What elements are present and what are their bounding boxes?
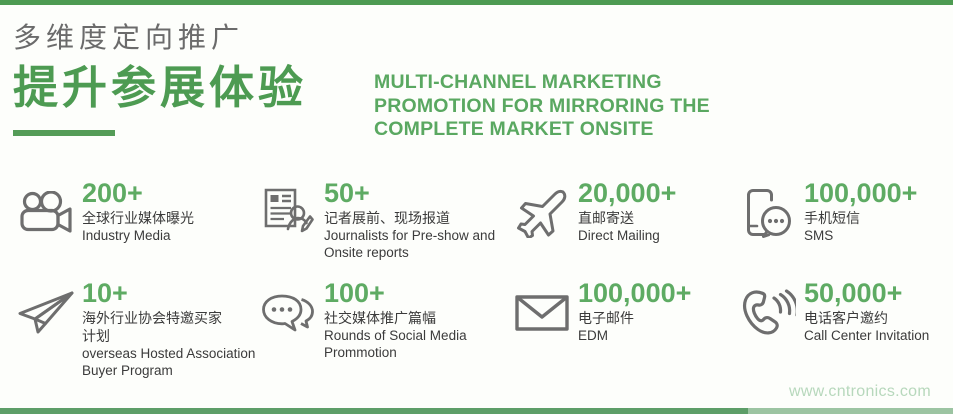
stat-label-english: overseas Hosted Association Buyer Progra…	[82, 345, 272, 379]
header-left-block: 多维度定向推广 提升参展体验	[13, 18, 373, 136]
stat-number: 50,000+	[804, 278, 953, 308]
stat-label-english: Rounds of Social Media Prommotion	[324, 327, 500, 361]
stat-item-sms: 100,000+ 手机短信 SMS	[722, 176, 953, 276]
stat-label-english: Industry Media	[82, 227, 248, 244]
stat-label-chinese: 社交媒体推广篇幅	[324, 309, 500, 327]
page-title-chinese: 提升参展体验	[13, 60, 373, 116]
stat-text-block: 10+ 海外行业协会特邀买家计划 overseas Hosted Associa…	[78, 276, 272, 379]
subtitle-chinese: 多维度定向推广	[13, 18, 373, 58]
paper-plane-icon	[14, 282, 78, 342]
video-camera-icon	[14, 182, 78, 242]
stat-text-block: 100,000+ 手机短信 SMS	[800, 176, 953, 244]
stat-number: 200+	[82, 178, 248, 208]
stat-label-chinese: 电子邮件	[578, 309, 722, 327]
stat-label-english: Journalists for Pre-show and Onsite repo…	[324, 227, 500, 261]
bottom-accent-bar-right	[748, 408, 953, 414]
stat-label-english: Call Center Invitation	[804, 327, 953, 344]
stat-label-chinese: 直邮寄送	[578, 209, 722, 227]
telephone-call-icon	[736, 282, 800, 342]
stat-number: 100,000+	[578, 278, 722, 308]
stats-row-2: 10+ 海外行业协会特邀买家计划 overseas Hosted Associa…	[0, 276, 953, 384]
stat-number: 100,000+	[804, 178, 953, 208]
stat-number: 50+	[324, 178, 500, 208]
site-watermark: www.cntronics.com	[789, 383, 931, 401]
stat-text-block: 100,000+ 电子邮件 EDM	[574, 276, 722, 344]
stat-item-call-center: 50,000+ 电话客户邀约 Call Center Invitation	[722, 276, 953, 384]
stat-label-english: SMS	[804, 227, 953, 244]
stat-number: 100+	[324, 278, 500, 308]
document-reporter-icon	[256, 182, 320, 242]
title-english-line-1: MULTI-CHANNEL MARKETING	[374, 71, 774, 95]
stat-label-chinese: 海外行业协会特邀买家计划	[82, 309, 232, 345]
stat-text-block: 200+ 全球行业媒体曝光 Industry Media	[78, 176, 248, 244]
title-english-line-3: COMPLETE MARKET ONSITE	[374, 118, 774, 142]
stat-number: 10+	[82, 278, 272, 308]
envelope-icon	[510, 282, 574, 342]
stat-text-block: 20,000+ 直邮寄送 Direct Mailing	[574, 176, 722, 244]
stat-text-block: 50+ 记者展前、现场报道 Journalists for Pre-show a…	[320, 176, 500, 261]
stat-item-direct-mailing: 20,000+ 直邮寄送 Direct Mailing	[500, 176, 722, 276]
airplane-icon	[510, 182, 574, 242]
stat-label-chinese: 手机短信	[804, 209, 953, 227]
stat-item-journalists: 50+ 记者展前、现场报道 Journalists for Pre-show a…	[248, 176, 500, 276]
stat-number: 20,000+	[578, 178, 722, 208]
stat-text-block: 100+ 社交媒体推广篇幅 Rounds of Social Media Pro…	[320, 276, 500, 361]
phone-sms-icon	[736, 182, 800, 242]
stats-row-1: 200+ 全球行业媒体曝光 Industry Media	[0, 176, 953, 276]
stat-label-english: EDM	[578, 327, 722, 344]
stats-grid: 200+ 全球行业媒体曝光 Industry Media	[0, 176, 953, 384]
header-right-block: MULTI-CHANNEL MARKETING PROMOTION FOR MI…	[374, 71, 774, 142]
stat-label-chinese: 记者展前、现场报道	[324, 209, 500, 227]
stat-label-chinese: 电话客户邀约	[804, 309, 953, 327]
stat-item-social-media: 100+ 社交媒体推广篇幅 Rounds of Social Media Pro…	[248, 276, 500, 384]
stat-item-industry-media: 200+ 全球行业媒体曝光 Industry Media	[0, 176, 248, 276]
stat-label-chinese: 全球行业媒体曝光	[82, 209, 248, 227]
stat-item-hosted-buyer: 10+ 海外行业协会特邀买家计划 overseas Hosted Associa…	[0, 276, 248, 384]
speech-bubbles-icon	[256, 282, 320, 342]
stat-item-edm: 100,000+ 电子邮件 EDM	[500, 276, 722, 384]
stat-text-block: 50,000+ 电话客户邀约 Call Center Invitation	[800, 276, 953, 344]
title-english-line-2: PROMOTION FOR MIRRORING THE	[374, 95, 774, 119]
title-accent-underline	[13, 130, 115, 136]
header: 多维度定向推广 提升参展体验 MULTI-CHANNEL MARKETING P…	[0, 0, 953, 170]
stat-label-english: Direct Mailing	[578, 227, 722, 244]
